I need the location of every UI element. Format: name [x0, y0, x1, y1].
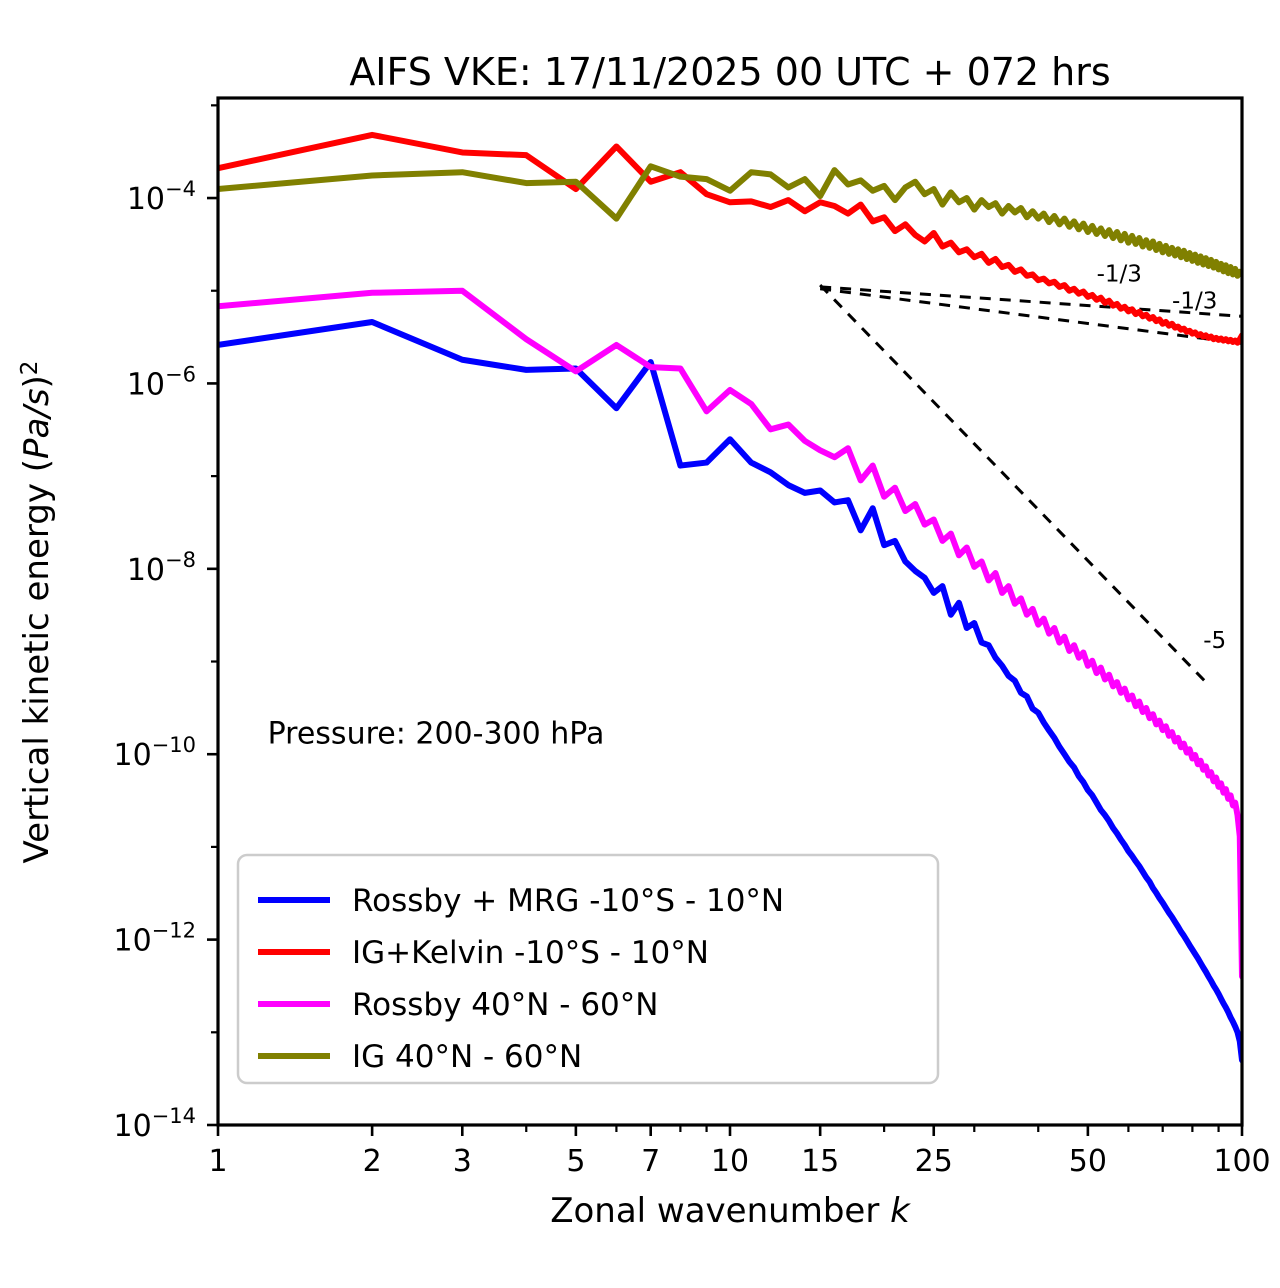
vke-spectrum-chart: AIFS VKE: 17/11/2025 00 UTC + 072 hrs 10… [0, 0, 1280, 1288]
pressure-annotation: Pressure: 200-300 hPa [268, 717, 605, 752]
x-tick-label: 5 [566, 1144, 585, 1179]
x-axis-label-symbol: k [890, 1191, 911, 1231]
x-tick-label: 50 [1069, 1144, 1107, 1179]
chart-title: AIFS VKE: 17/11/2025 00 UTC + 072 hrs [349, 50, 1110, 94]
x-axis-label: Zonal wavenumber k [550, 1191, 911, 1231]
chart-figure: AIFS VKE: 17/11/2025 00 UTC + 072 hrs 10… [0, 0, 1280, 1288]
legend-label: IG+Kelvin -10°S - 10°N [352, 935, 709, 971]
x-axis-label-text: Zonal wavenumber [550, 1191, 890, 1231]
legend-label: Rossby 40°N - 60°N [352, 987, 658, 1023]
x-tick-label: 2 [363, 1144, 382, 1179]
slope-label-upper: -1/3 [1097, 262, 1142, 288]
x-tick-label: 3 [453, 1144, 472, 1179]
x-tick-label: 100 [1213, 1144, 1270, 1179]
x-tick-label: 7 [641, 1144, 660, 1179]
x-tick-label: 25 [915, 1144, 953, 1179]
slope-label-steep: -5 [1203, 628, 1226, 654]
y-axis-label: Vertical kinetic energy (Pa/s)2 [17, 361, 57, 864]
y-axis-label-exponent: 2 [17, 361, 43, 376]
legend-label: IG 40°N - 60°N [352, 1039, 582, 1075]
slope-label-lower: -1/3 [1172, 289, 1217, 315]
y-axis-label-close: ) [17, 375, 57, 388]
x-tick-label: 1 [208, 1144, 227, 1179]
legend[interactable]: Rossby + MRG -10°S - 10°NIG+Kelvin -10°S… [238, 855, 938, 1083]
x-tick-label: 10 [711, 1144, 749, 1179]
legend-label: Rossby + MRG -10°S - 10°N [352, 883, 784, 919]
y-axis-label-units: Pa/s [17, 388, 57, 459]
y-axis-label-text: Vertical kinetic energy ( [17, 459, 57, 864]
x-tick-label: 15 [801, 1144, 839, 1179]
